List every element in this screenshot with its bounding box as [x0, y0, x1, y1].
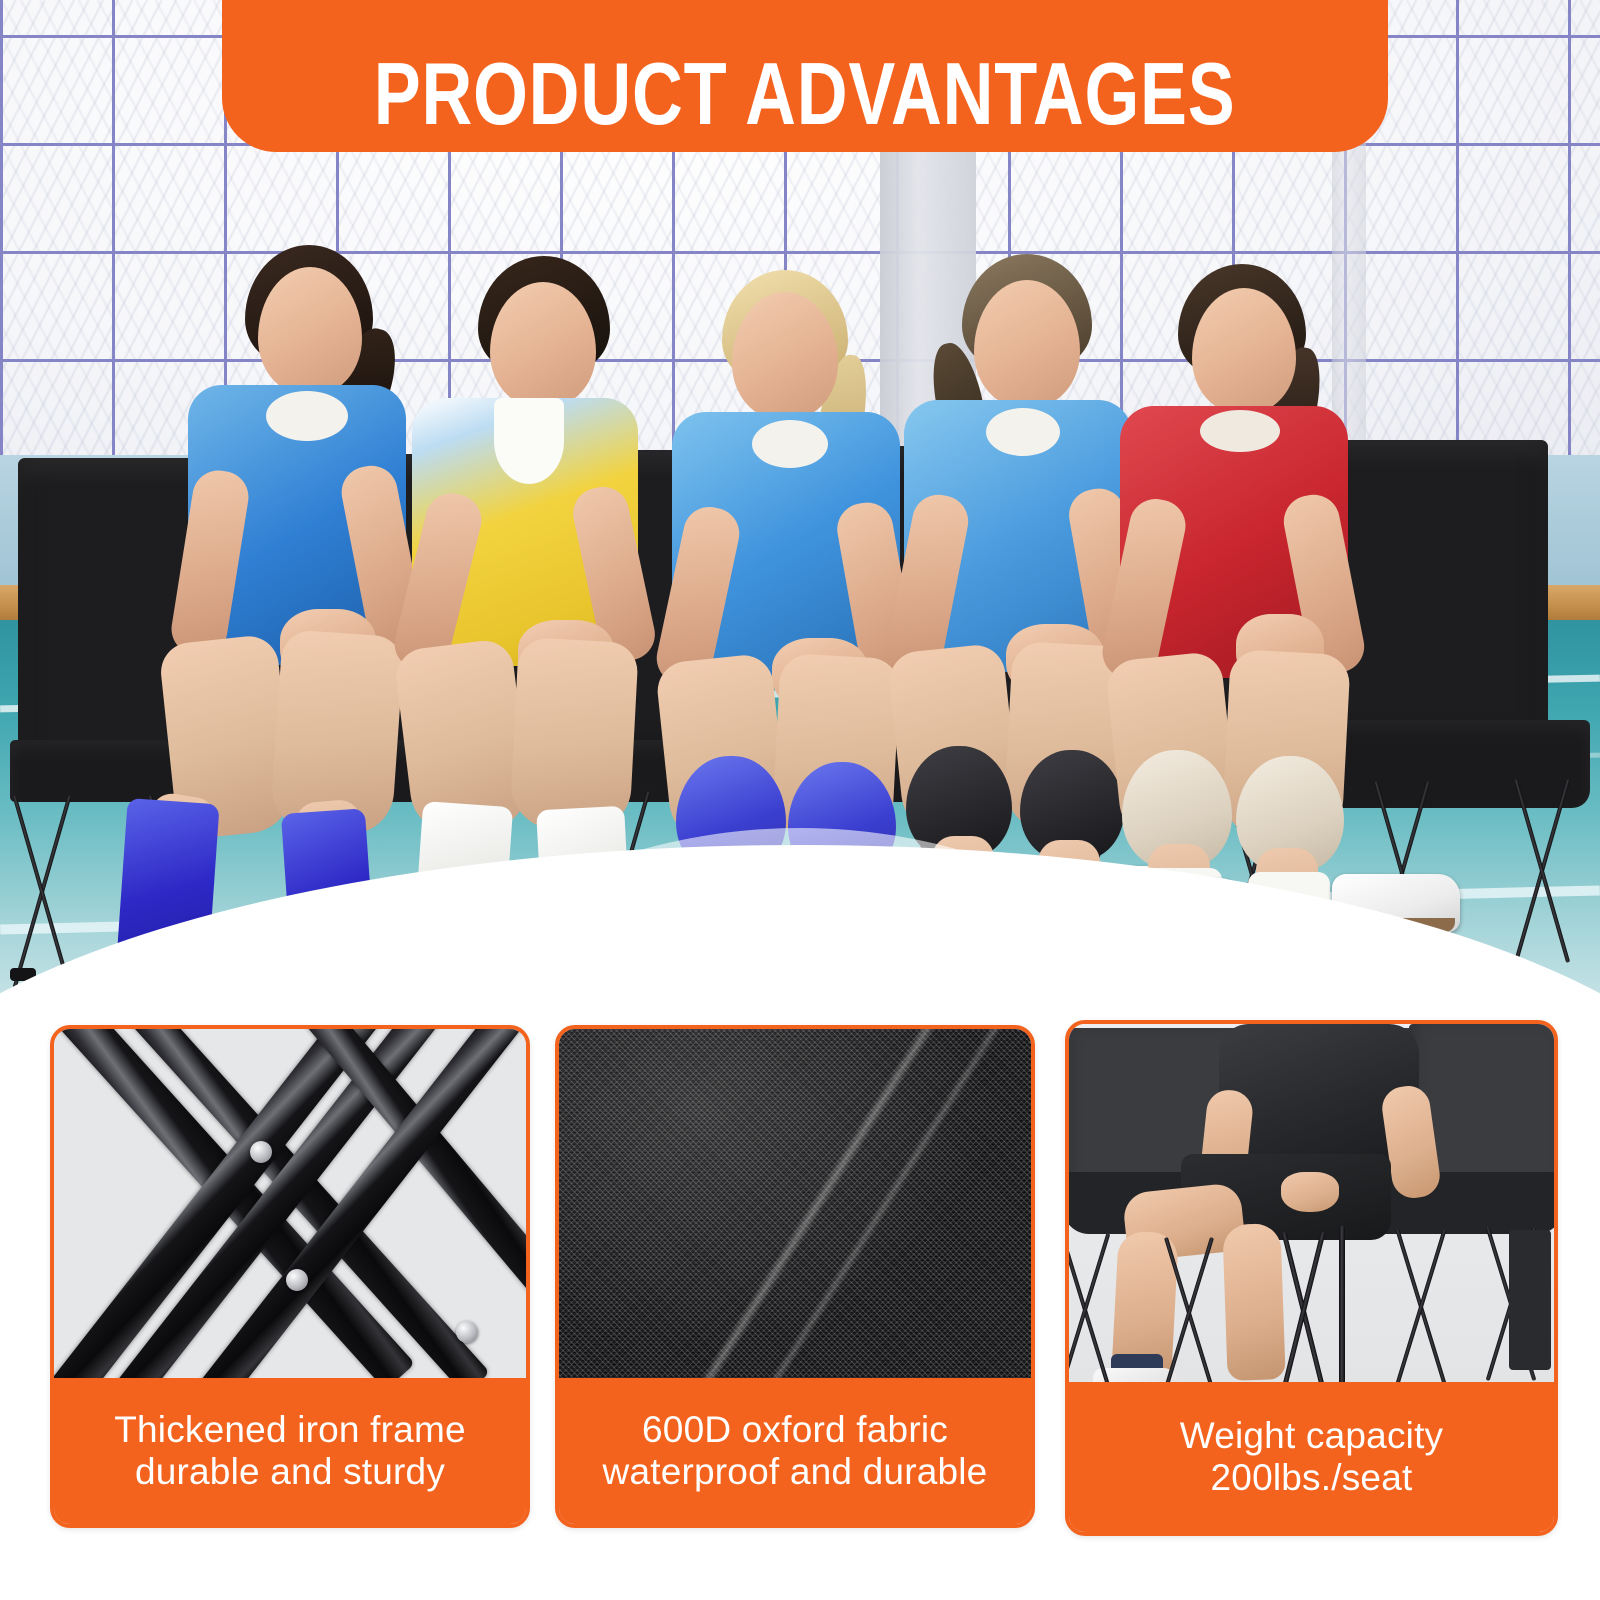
rivet-icon	[456, 1321, 478, 1343]
weight-capacity-caption: Weight capacity 200lbs./seat	[1069, 1382, 1554, 1532]
iron-frame-photo	[54, 1029, 526, 1381]
feature-card-oxford-fabric[interactable]: 600D oxford fabric waterproof and durabl…	[555, 1025, 1035, 1528]
oxford-fabric-caption: 600D oxford fabric waterproof and durabl…	[559, 1378, 1031, 1524]
fabric-weave-texture	[559, 1029, 1031, 1381]
caption-line-2: waterproof and durable	[603, 1451, 988, 1493]
rivet-icon	[286, 1269, 308, 1291]
caption-line-2: durable and sturdy	[135, 1451, 445, 1493]
header-banner: PRODUCT ADVANTAGES	[222, 0, 1388, 152]
caption-line-1: 600D oxford fabric	[642, 1409, 948, 1451]
feature-cards: Thickened iron frame durable and sturdy …	[0, 0, 1600, 1600]
caption-line-1: Thickened iron frame	[114, 1409, 466, 1451]
hand	[1281, 1172, 1339, 1212]
feature-card-weight-capacity[interactable]: Weight capacity 200lbs./seat	[1065, 1020, 1558, 1536]
shin-2	[1222, 1223, 1285, 1381]
page-title: PRODUCT ADVANTAGES	[374, 50, 1236, 138]
oxford-fabric-photo	[559, 1029, 1031, 1381]
iron-frame-caption: Thickened iron frame durable and sturdy	[54, 1378, 526, 1524]
rivet-icon	[250, 1141, 272, 1163]
caption-line-1: Weight capacity	[1180, 1415, 1444, 1457]
weight-capacity-photo	[1069, 1024, 1554, 1384]
caption-line-2: 200lbs./seat	[1211, 1457, 1413, 1499]
feature-card-iron-frame[interactable]: Thickened iron frame durable and sturdy	[50, 1025, 530, 1528]
side-pouch	[1509, 1230, 1551, 1370]
advertisement-page: Thickened iron frame durable and sturdy …	[0, 0, 1600, 1600]
